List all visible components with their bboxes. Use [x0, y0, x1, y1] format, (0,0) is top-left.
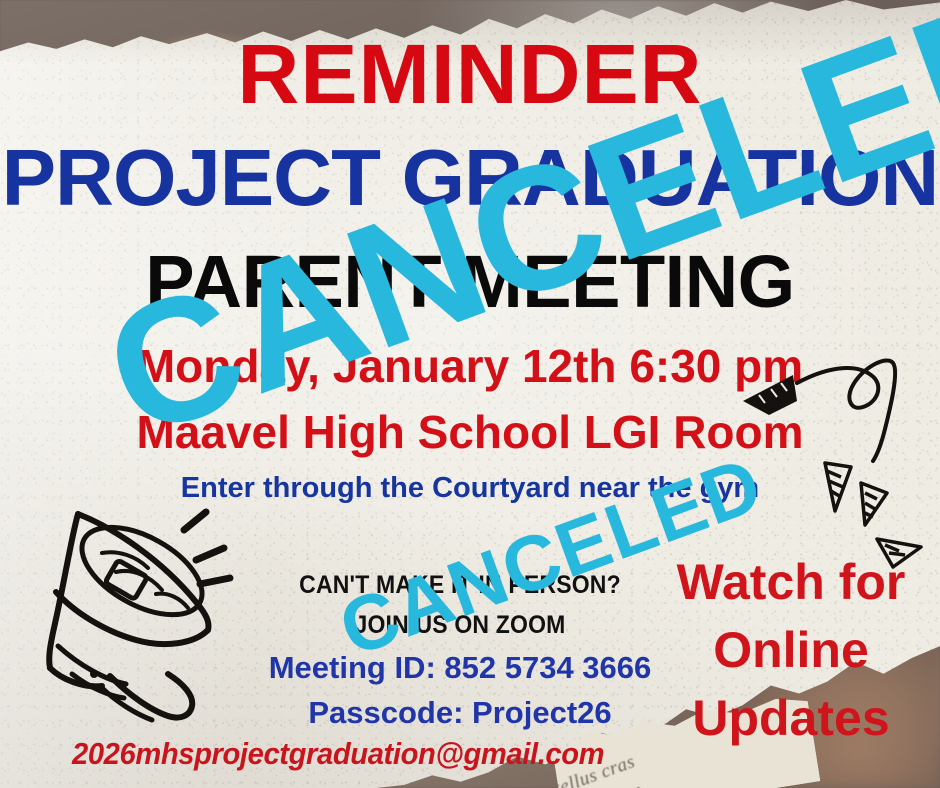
zoom-meeting-id: Meeting ID: 852 5734 3666 — [240, 645, 680, 690]
flyer-canvas: tellus cras it diam ssel- REMINDER PROJE… — [0, 0, 940, 788]
contact-email[interactable]: 2026mhsprojectgraduation@gmail.com — [72, 736, 604, 772]
watch-line-1: Watch for — [666, 548, 916, 616]
watch-for-updates-block: Watch for Online Updates — [666, 548, 916, 752]
flyer-content: REMINDER PROJECT GRADUATION PARENT MEETI… — [0, 0, 940, 788]
watch-line-3: Updates — [666, 684, 916, 752]
watch-line-2: Online — [666, 616, 916, 684]
zoom-passcode: Passcode: Project26 — [240, 690, 680, 735]
megaphone-icon — [44, 498, 259, 728]
